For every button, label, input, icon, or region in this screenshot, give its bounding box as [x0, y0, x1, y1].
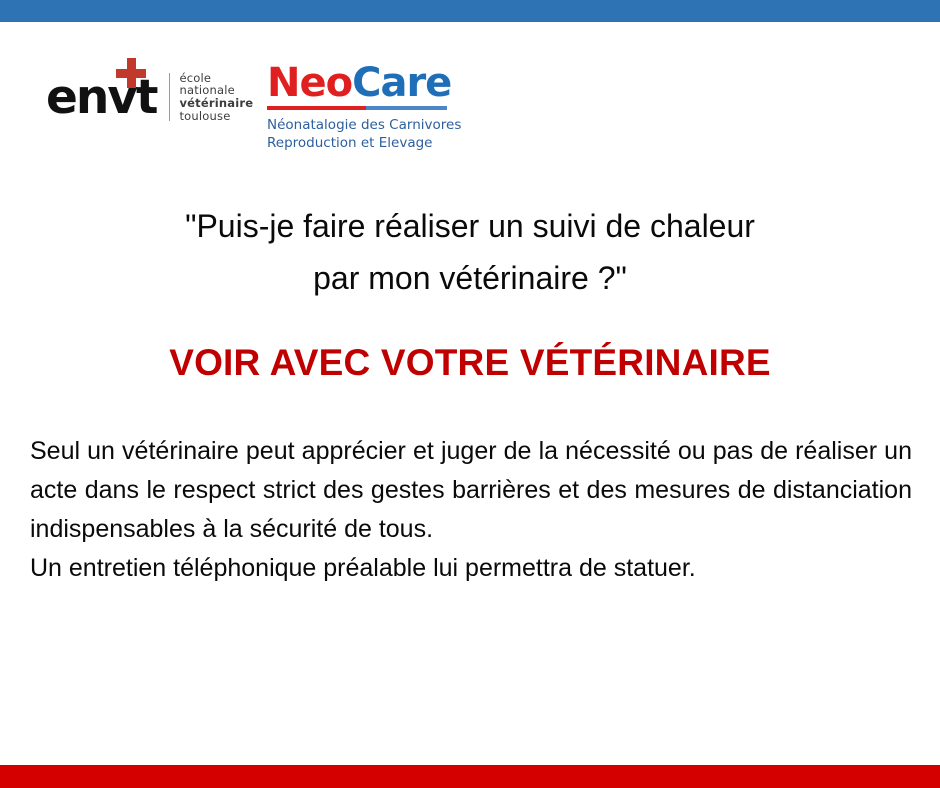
neocare-subtitle: Néonatalogie des Carnivores Reproduction…: [267, 116, 457, 152]
callout-heading: VOIR AVEC VOTRE VÉTÉRINAIRE: [40, 340, 900, 386]
neocare-wordmark-care: Care: [352, 60, 451, 106]
neocare-underline-red: [267, 106, 366, 110]
body-paragraph-1: Seul un vétérinaire peut apprécier et ju…: [30, 432, 912, 549]
question-title-line-1: "Puis-je faire réaliser un suivi de chal…: [40, 200, 900, 252]
question-title: "Puis-je faire réaliser un suivi de chal…: [40, 200, 900, 304]
neocare-underline-blue: [366, 106, 447, 110]
bottom-accent-bar: [0, 765, 940, 788]
envt-logo: envt école nationale vétérinaire toulous…: [46, 67, 253, 127]
neocare-subtitle-line-1: Néonatalogie des Carnivores: [267, 116, 457, 134]
envt-tagline-line-3: vétérinaire: [179, 97, 253, 110]
neocare-logo: NeoCare Néonatalogie des Carnivores Repr…: [267, 61, 457, 152]
neocare-wordmark-neo: Neo: [267, 60, 352, 106]
envt-logo-divider: [169, 73, 170, 121]
question-title-line-2: par mon vétérinaire ?": [40, 252, 900, 304]
envt-tagline: école nationale vétérinaire toulouse: [179, 72, 253, 122]
body-paragraph-2: Un entretien téléphonique préalable lui …: [30, 549, 912, 588]
envt-red-cross-icon: [116, 58, 146, 88]
neocare-underline-rule: [267, 106, 447, 110]
neocare-subtitle-line-2: Reproduction et Elevage: [267, 134, 457, 152]
body-copy: Seul un vétérinaire peut apprécier et ju…: [30, 432, 912, 588]
top-accent-bar: [0, 0, 940, 22]
neocare-wordmark: NeoCare: [267, 61, 457, 105]
envt-tagline-line-4: toulouse: [179, 110, 253, 123]
slide-root: envt école nationale vétérinaire toulous…: [0, 0, 940, 788]
logo-strip: envt école nationale vétérinaire toulous…: [0, 55, 940, 160]
